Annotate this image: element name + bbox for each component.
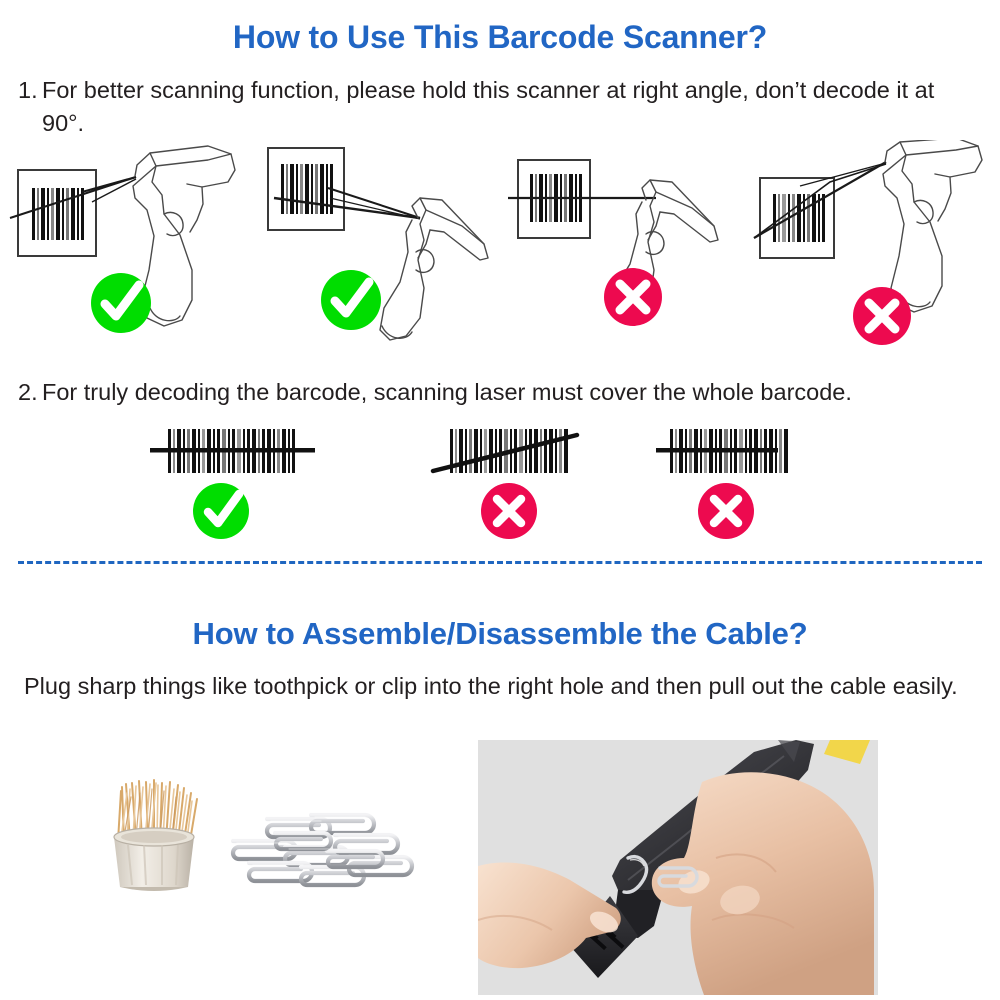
barcode-scanner-outline-2 xyxy=(380,198,488,340)
step-2-number: 2. xyxy=(0,376,42,409)
photo-paperclips xyxy=(215,805,430,900)
page-title-scanning: How to Use This Barcode Scanner? xyxy=(0,19,1000,56)
step-1-number: 1. xyxy=(0,74,42,107)
barcode-box-1 xyxy=(18,170,96,256)
angle-panel-1 xyxy=(4,140,254,355)
barcode-box-4 xyxy=(760,178,834,258)
barcode-scanner-outline-4 xyxy=(883,140,982,312)
step-1: 1. For better scanning function, please … xyxy=(0,74,1000,140)
angle-panel-3 xyxy=(500,140,750,355)
laser-line-1 xyxy=(150,448,315,453)
laser-coverage-illustrations xyxy=(0,415,1000,545)
status-badge-incorrect-4 xyxy=(853,287,911,345)
coverage-panel-2 xyxy=(425,415,625,545)
step-2: 2. For truly decoding the barcode, scann… xyxy=(0,376,1000,409)
step-1-text: For better scanning function, please hol… xyxy=(42,74,967,140)
photo-hands-inserting-clip xyxy=(478,740,878,995)
coverage-panel-3 xyxy=(640,415,840,545)
cable-instructions-text: Plug sharp things like toothpick or clip… xyxy=(24,670,979,703)
instruction-sheet: How to Use This Barcode Scanner? 1. For … xyxy=(0,0,1000,1000)
scanning-angle-illustrations xyxy=(0,140,1000,355)
paper-clip-pile xyxy=(233,815,412,885)
section-divider xyxy=(18,561,982,564)
toothpick-holder-cup xyxy=(114,828,194,891)
page-title-cable: How to Assemble/Disassemble the Cable? xyxy=(0,616,1000,652)
status-badge-incorrect-coverage-3 xyxy=(698,483,754,539)
laser-line-3-partial xyxy=(656,448,778,453)
angle-panel-4 xyxy=(738,140,1000,355)
status-badge-correct-2 xyxy=(321,270,381,330)
status-badge-correct-coverage-1 xyxy=(193,483,249,539)
angle-panel-2 xyxy=(248,140,498,355)
status-badge-correct-1 xyxy=(91,273,151,333)
status-badge-incorrect-coverage-2 xyxy=(481,483,537,539)
step-2-text: For truly decoding the barcode, scanning… xyxy=(42,376,1000,409)
status-badge-incorrect-3 xyxy=(604,268,662,326)
photo-toothpicks xyxy=(88,775,228,895)
coverage-panel-1 xyxy=(120,415,360,545)
